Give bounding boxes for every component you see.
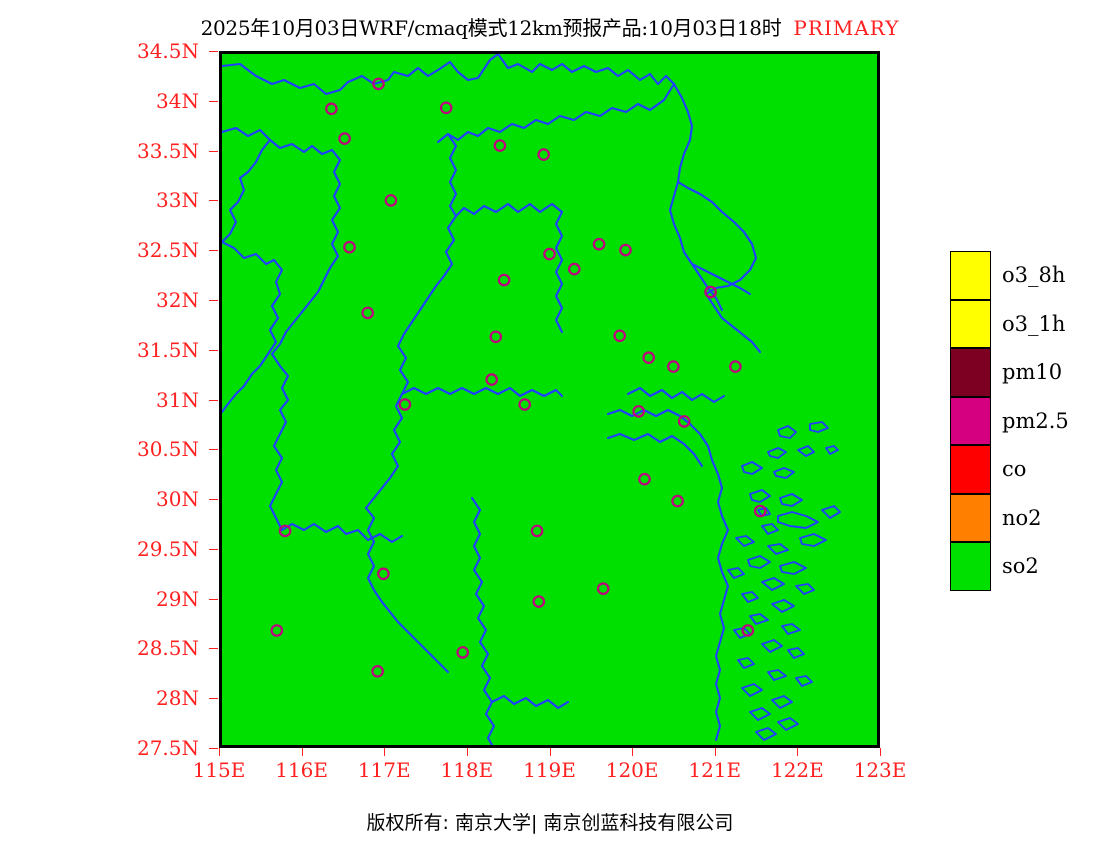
x-axis-label: 120E (606, 758, 659, 782)
y-axis-label: 31.5N (109, 338, 199, 362)
y-axis-label: 33.5N (109, 139, 199, 163)
y-axis-tick (209, 698, 218, 699)
x-axis-label: 115E (193, 758, 246, 782)
station-marker[interactable] (644, 353, 654, 363)
x-axis-tick (715, 748, 716, 756)
legend-item-label: co (1002, 457, 1026, 481)
station-marker[interactable] (326, 104, 336, 114)
station-marker[interactable] (495, 140, 505, 150)
station-marker[interactable] (491, 332, 501, 342)
y-axis-label: 30.5N (109, 437, 199, 461)
x-axis-tick (550, 748, 551, 756)
map-frame[interactable] (219, 51, 880, 748)
y-axis-tick (209, 51, 218, 52)
station-markers (272, 79, 766, 677)
chart-title: 2025年10月03日WRF/cmaq模式12km预报产品:10月03日18时P… (0, 12, 1100, 41)
legend-item-label: no2 (1002, 506, 1042, 530)
y-axis-label: 32N (109, 288, 199, 312)
map-plot-area[interactable] (219, 51, 880, 748)
y-axis-tick (209, 549, 218, 550)
y-axis-label: 30N (109, 487, 199, 511)
x-axis-tick (302, 748, 303, 756)
x-axis-tick (467, 748, 468, 756)
station-marker[interactable] (672, 496, 682, 506)
x-axis-tick (632, 748, 633, 756)
offshore-islands (728, 422, 840, 740)
x-axis-label: 121E (688, 758, 741, 782)
station-marker[interactable] (378, 569, 388, 579)
legend-color-swatch (950, 251, 991, 300)
station-marker[interactable] (620, 245, 630, 255)
x-axis-label: 117E (358, 758, 411, 782)
station-marker[interactable] (615, 331, 625, 341)
y-axis-label: 29N (109, 587, 199, 611)
y-axis-tick (209, 599, 218, 600)
y-axis-label: 27.5N (109, 736, 199, 760)
y-axis-tick (209, 151, 218, 152)
station-marker[interactable] (730, 361, 740, 371)
y-axis-label: 34N (109, 89, 199, 113)
legend-item-label: o3_1h (1002, 312, 1065, 336)
title-main-text: 2025年10月03日WRF/cmaq模式12km预报产品:10月03日18时 (201, 16, 782, 40)
station-marker[interactable] (544, 249, 554, 259)
y-axis-tick (209, 200, 218, 201)
legend-item-label: pm2.5 (1002, 409, 1069, 433)
station-marker[interactable] (441, 103, 451, 113)
copyright-footer: 版权所有: 南京大学| 南京创蓝科技有限公司 (0, 808, 1100, 835)
legend-color-swatch (950, 300, 991, 349)
station-marker[interactable] (458, 647, 468, 657)
legend-color-swatch (950, 542, 991, 591)
y-axis-label: 28N (109, 686, 199, 710)
y-axis-tick (209, 449, 218, 450)
legend-color-swatch (950, 397, 991, 446)
y-axis-tick (209, 250, 218, 251)
station-marker[interactable] (534, 596, 544, 606)
station-marker[interactable] (372, 666, 382, 676)
x-axis-tick (384, 748, 385, 756)
legend-item-label: pm10 (1002, 360, 1062, 384)
station-marker[interactable] (639, 474, 649, 484)
station-marker[interactable] (363, 308, 373, 318)
x-axis-label: 119E (523, 758, 576, 782)
legend-item-label: so2 (1002, 554, 1039, 578)
y-axis-tick (209, 648, 218, 649)
legend-color-swatch (950, 348, 991, 397)
coastline (608, 84, 760, 740)
y-axis-tick (209, 499, 218, 500)
y-axis-tick (209, 300, 218, 301)
station-marker[interactable] (499, 275, 509, 285)
y-axis-tick (209, 400, 218, 401)
station-marker[interactable] (339, 133, 349, 143)
station-marker[interactable] (520, 399, 530, 409)
legend-item-label: o3_8h (1002, 263, 1065, 287)
x-axis-tick (797, 748, 798, 756)
station-marker[interactable] (668, 361, 678, 371)
province-boundaries (222, 54, 724, 745)
station-marker[interactable] (400, 399, 410, 409)
station-marker[interactable] (598, 584, 608, 594)
title-primary-text: PRIMARY (793, 16, 899, 40)
x-axis-tick (219, 748, 220, 756)
station-marker[interactable] (272, 625, 282, 635)
y-axis-tick (209, 748, 218, 749)
x-axis-tick (880, 748, 881, 756)
y-axis-label: 33N (109, 188, 199, 212)
station-marker[interactable] (594, 239, 604, 249)
station-marker[interactable] (569, 264, 579, 274)
y-axis-label: 34.5N (109, 39, 199, 63)
x-axis-label: 118E (440, 758, 493, 782)
y-axis-tick (209, 101, 218, 102)
station-marker[interactable] (386, 195, 396, 205)
map-vector-layer (222, 54, 877, 745)
y-axis-tick (209, 350, 218, 351)
y-axis-label: 28.5N (109, 636, 199, 660)
legend-color-swatch (950, 445, 991, 494)
x-axis-label: 116E (275, 758, 328, 782)
x-axis-label: 123E (854, 758, 907, 782)
station-marker[interactable] (344, 242, 354, 252)
station-marker[interactable] (539, 149, 549, 159)
y-axis-label: 32.5N (109, 238, 199, 262)
station-marker[interactable] (487, 374, 497, 384)
legend-color-swatch (950, 494, 991, 543)
station-marker[interactable] (532, 526, 542, 536)
x-axis-label: 122E (771, 758, 824, 782)
y-axis-label: 29.5N (109, 537, 199, 561)
y-axis-label: 31N (109, 388, 199, 412)
